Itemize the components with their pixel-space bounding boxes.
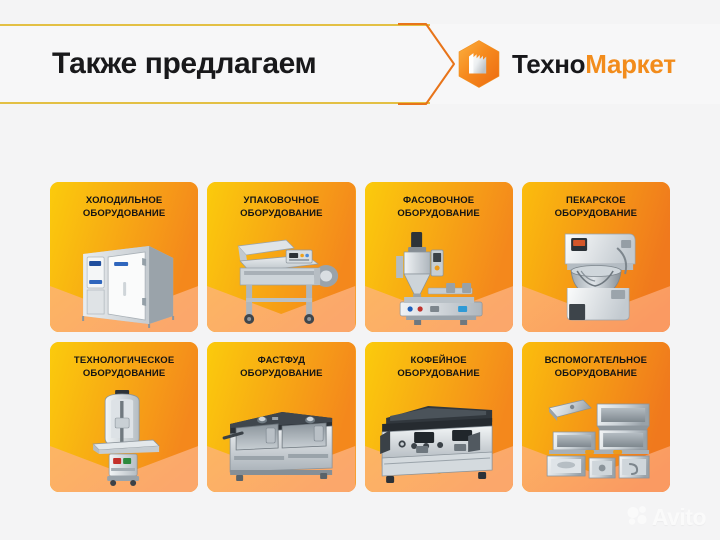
tile-label: ПЕКАРСКОЕ ОБОРУДОВАНИЕ: [528, 194, 664, 220]
category-tile-technological[interactable]: ТЕХНОЛОГИЧЕСКОЕ ОБОРУДОВАНИЕ: [50, 342, 198, 492]
brand-logo-text: ТехноМаркет: [512, 51, 676, 77]
packaging-machine-photo: [207, 228, 355, 328]
banner-chevron-icon: [398, 23, 458, 105]
tile-label: ХОЛОДИЛЬНОЕ ОБОРУДОВАНИЕ: [56, 194, 192, 220]
brand-name-secondary: Маркет: [585, 49, 675, 79]
category-tile-refrigeration[interactable]: ХОЛОДИЛЬНОЕ ОБОРУДОВАНИЕ: [50, 182, 198, 332]
avito-watermark: Avito: [627, 505, 706, 530]
category-tile-fastfood[interactable]: ФАСТФУД ОБОРУДОВАНИЕ: [207, 342, 355, 492]
tile-label: КОФЕЙНОЕ ОБОРУДОВАНИЕ: [371, 354, 507, 380]
category-tile-auxiliary[interactable]: ВСПОМОГАТЕЛЬНОЕ ОБОРУДОВАНИЕ: [522, 342, 670, 492]
gastronorm-trays-photo: [522, 388, 670, 488]
tile-label: УПАКОВОЧНОЕ ОБОРУДОВАНИЕ: [213, 194, 349, 220]
banner-top-rule: [0, 24, 430, 26]
header-banner: Также предлагаем: [0, 24, 720, 104]
technomarket-hexagon-icon: [455, 39, 503, 89]
avito-watermark-text: Avito: [652, 506, 706, 529]
filling-machine-photo: [365, 228, 513, 328]
bone-band-saw-photo: [50, 388, 198, 488]
category-grid: ХОЛОДИЛЬНОЕ ОБОРУДОВАНИЕ: [50, 182, 670, 492]
category-tile-bakery[interactable]: ПЕКАРСКОЕ ОБОРУДОВАНИЕ: [522, 182, 670, 332]
avito-dots-icon: [627, 505, 649, 530]
espresso-coffee-machine-photo: [365, 388, 513, 488]
refrigeration-chamber-photo: [50, 228, 198, 328]
brand-name-primary: Техно: [512, 49, 585, 79]
category-tile-coffee[interactable]: КОФЕЙНОЕ ОБОРУДОВАНИЕ: [365, 342, 513, 492]
category-tile-filling[interactable]: ФАСОВОЧНОЕ ОБОРУДОВАНИЕ: [365, 182, 513, 332]
tile-label: ФАСТФУД ОБОРУДОВАНИЕ: [213, 354, 349, 380]
page-title: Также предлагаем: [52, 47, 316, 81]
tile-label: ВСПОМОГАТЕЛЬНОЕ ОБОРУДОВАНИЕ: [528, 354, 664, 380]
banner-bottom-rule: [0, 102, 430, 104]
brand-logo[interactable]: ТехноМаркет: [455, 39, 676, 89]
tile-label: ТЕХНОЛОГИЧЕСКОЕ ОБОРУДОВАНИЕ: [56, 354, 192, 380]
tile-label: ФАСОВОЧНОЕ ОБОРУДОВАНИЕ: [371, 194, 507, 220]
category-tile-packaging[interactable]: УПАКОВОЧНОЕ ОБОРУДОВАНИЕ: [207, 182, 355, 332]
double-deep-fryer-photo: [207, 388, 355, 488]
spiral-dough-mixer-photo: [522, 228, 670, 328]
